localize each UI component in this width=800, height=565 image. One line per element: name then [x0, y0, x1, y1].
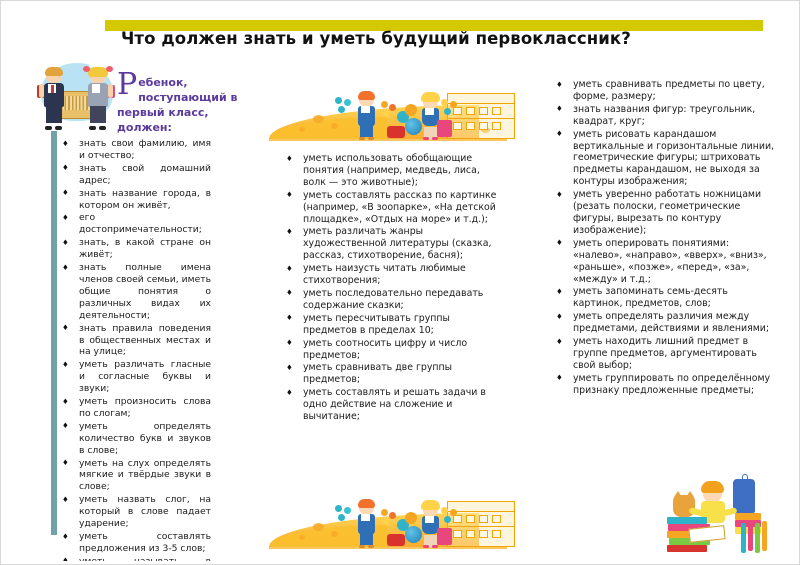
list-item: уметь составлять рассказ по картинке (на… [283, 190, 505, 226]
left-column-accent-rule [51, 131, 57, 535]
arm-shape [108, 84, 113, 98]
school-scene-bottom-illustration [269, 487, 517, 553]
list-item: знать, в какой стране он живёт; [59, 237, 211, 261]
list-item: уметь определять количество букв и звуко… [59, 421, 211, 457]
list-item: уметь различать гласные и согласные букв… [59, 359, 211, 395]
list-item: уметь на слух определять мягкие и твёрды… [59, 458, 211, 494]
legs-shape [360, 125, 373, 137]
column-middle: уметь использовать обобщающие понятия (н… [283, 153, 505, 424]
flower-bouquet-shape [335, 97, 353, 115]
list-item: уметь группировать по определённому приз… [553, 373, 775, 397]
shoe-shape [368, 137, 374, 140]
girl-figure [85, 69, 111, 129]
hair-shape [421, 92, 440, 102]
shirt-shape [425, 108, 434, 115]
flower-bouquet-shape [441, 99, 459, 117]
list-item: уметь составлять и решать задачи в одно … [283, 387, 505, 423]
list-item: уметь составлять предложения из 3-5 слов… [59, 531, 211, 555]
shoe-shape [423, 137, 429, 140]
decorative-blob [331, 123, 338, 129]
balloon-shape [405, 512, 417, 524]
boy-figure [355, 501, 379, 547]
requirements-list-middle: уметь использовать обобщающие понятия (н… [283, 153, 505, 423]
pencil-shape [762, 521, 767, 551]
shoe-shape [359, 545, 365, 548]
list-item: уметь сравнивать две группы предметов; [283, 362, 505, 386]
decorative-blob [313, 523, 324, 531]
list-item: уметь запоминать семь-десять картинок, п… [553, 286, 775, 310]
intro-line-3: первый класс, должен: [117, 105, 267, 135]
decorative-blob [299, 127, 305, 132]
window-shape [466, 530, 475, 538]
boy-with-books-cat-illustration [649, 473, 789, 557]
list-item: уметь рисовать карандашом вертикальные и… [553, 129, 775, 189]
boy-figure [41, 69, 67, 129]
baseline-shape [269, 139, 507, 141]
shoe-shape [45, 126, 52, 130]
hair-shape [421, 500, 440, 510]
list-item: уметь последовательно передавать содержа… [283, 288, 505, 312]
hair-bow-shape [106, 66, 113, 72]
arm-shape [39, 84, 44, 98]
school-scene-top-illustration [269, 79, 517, 145]
book-shape [667, 545, 707, 552]
satchel-shape [387, 126, 405, 138]
flower-bouquet-shape [335, 505, 353, 523]
column-left: знать свои фамилию, имя и отчество; знат… [59, 138, 211, 565]
window-shape [466, 122, 475, 130]
window-shape [479, 515, 488, 523]
shirt-shape [361, 106, 370, 113]
list-item: уметь сравнивать предметы по цвету, форм… [553, 79, 775, 103]
window-shape [466, 515, 475, 523]
balloon-shape [405, 104, 417, 116]
list-item: уметь находить лишний предмет в группе п… [553, 336, 775, 372]
footer-spacer [1, 561, 800, 564]
poster-page: Что должен знать и уметь будущий первокл… [0, 0, 800, 565]
hair-shape [358, 91, 375, 100]
list-item: уметь различать жанры художественной лит… [283, 226, 505, 262]
satchel-shape [387, 534, 405, 546]
shoe-shape [359, 137, 365, 140]
decorative-blob [299, 535, 305, 540]
school-bag-shape [437, 528, 452, 545]
window-shape [492, 530, 501, 538]
tie-shape [51, 85, 54, 93]
list-item: уметь уверенно работать ножницами (резат… [553, 189, 775, 237]
book-shape [735, 513, 761, 520]
shirt-shape [361, 514, 370, 521]
intro-text: Р ебенок, поступающий в первый класс, до… [117, 75, 267, 135]
list-item: знать название города, в котором он живё… [59, 188, 211, 212]
window-shape [453, 530, 462, 538]
list-item: уметь определять различия между предмета… [553, 311, 775, 335]
hair-shape [45, 67, 63, 76]
book-shape [667, 517, 707, 524]
list-item: уметь использовать обобщающие понятия (н… [283, 153, 505, 189]
intro-line-2: поступающий в [117, 90, 267, 105]
requirements-list-left: знать свои фамилию, имя и отчество; знат… [59, 138, 211, 565]
hair-shape [358, 499, 375, 508]
shirt-shape [92, 84, 100, 93]
list-item: уметь произносить слова по слогам; [59, 396, 211, 420]
page-title: Что должен знать и уметь будущий первокл… [121, 29, 771, 48]
shirt-shape [425, 516, 434, 523]
intro-line-1: ебенок, [117, 75, 267, 90]
window-shape [479, 122, 488, 130]
list-item: знать названия фигур: треугольник, квадр… [553, 104, 775, 128]
school-bag-shape [437, 120, 452, 137]
window-shape [492, 515, 501, 523]
dropcap-letter: Р [117, 73, 137, 97]
requirements-list-right: уметь сравнивать предметы по цвету, форм… [553, 79, 775, 397]
column-right: уметь сравнивать предметы по цвету, форм… [553, 79, 775, 398]
pencil-shape [748, 521, 753, 551]
list-item: уметь оперировать понятиями: «налево», «… [553, 238, 775, 286]
shoe-shape [89, 126, 96, 130]
list-item: знать полные имена членов своей семьи, и… [59, 262, 211, 322]
decorative-blob [313, 115, 324, 123]
shoe-shape [55, 126, 62, 130]
shoe-shape [432, 137, 438, 140]
hair-shape [88, 67, 108, 77]
flower-bouquet-shape [441, 507, 459, 525]
window-shape [479, 107, 488, 115]
shoe-shape [368, 545, 374, 548]
window-shape [453, 122, 462, 130]
pencil-shape [741, 523, 746, 553]
list-item: знать правила поведения в общественных м… [59, 323, 211, 359]
list-item: уметь пересчитывать группы предметов в п… [283, 313, 505, 337]
shoe-shape [99, 126, 106, 130]
legs-shape [46, 106, 62, 123]
window-shape [479, 530, 488, 538]
baseline-shape [269, 547, 507, 549]
list-item: уметь соотносить цифру и число предметов… [283, 338, 505, 362]
window-shape [466, 107, 475, 115]
window-shape [492, 107, 501, 115]
list-item: уметь наизусть читать любимые стихотворе… [283, 263, 505, 287]
legs-shape [360, 533, 373, 545]
boy-figure [355, 93, 379, 139]
list-item: знать свой домашний адрес; [59, 163, 211, 187]
hair-bow-shape [83, 66, 90, 72]
list-item: его достопримечательности; [59, 212, 211, 236]
hair-shape [701, 481, 724, 493]
pencil-shape [755, 523, 760, 553]
list-item: уметь назвать слог, на который в слове п… [59, 494, 211, 530]
window-shape [492, 122, 501, 130]
shoe-shape [423, 545, 429, 548]
legs-shape [90, 106, 106, 123]
decorative-blob [331, 531, 338, 537]
open-book-shape [688, 525, 725, 543]
shoe-shape [432, 545, 438, 548]
list-item: знать свои фамилию, имя и отчество; [59, 138, 211, 162]
